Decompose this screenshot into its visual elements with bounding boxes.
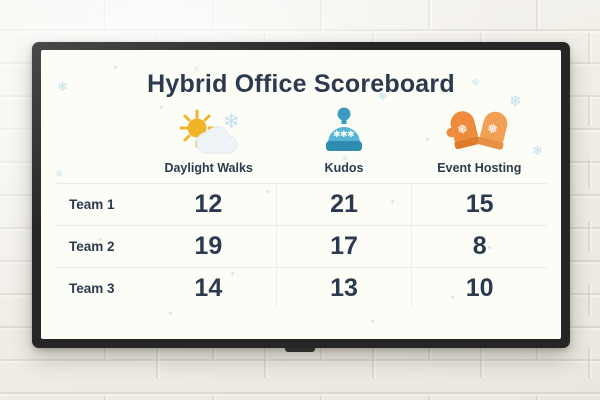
scoreboard-table: Team 1 12 21 15 Team 2 19 17 8 Team 3 14… xyxy=(55,183,547,309)
row-label-team-3: Team 3 xyxy=(55,281,141,296)
tv-screen: ❄ ❄ ❄ ❄ ❄ ❄ ❄ ❄ ❄ xyxy=(41,50,561,339)
table-row: Team 2 19 17 8 xyxy=(55,225,547,267)
beanie-snowflake-motif: ✱ ✱ ✱ xyxy=(333,130,355,140)
brick-wall-background: ❄ ❄ ❄ ❄ ❄ ❄ ❄ ❄ ❄ xyxy=(0,0,600,400)
icon-row-spacer xyxy=(55,105,141,157)
cell-team1-kudos: 21 xyxy=(276,184,412,225)
cell-team1-event-hosting: 15 xyxy=(411,184,547,225)
row-label-team-2: Team 2 xyxy=(55,239,141,254)
icon-row: ✱ ✱ ✱ xyxy=(41,105,561,157)
wall-mounted-tv: ❄ ❄ ❄ ❄ ❄ ❄ ❄ ❄ ❄ xyxy=(32,42,570,348)
table-row: Team 1 12 21 15 xyxy=(55,183,547,225)
table-row: Team 3 14 13 10 xyxy=(55,267,547,309)
column-header-daylight-walks: Daylight Walks xyxy=(141,161,276,175)
page-title: Hybrid Office Scoreboard xyxy=(41,50,561,99)
cell-team2-event-hosting: 8 xyxy=(411,226,547,267)
decorative-dot xyxy=(169,312,172,315)
table-column-headers: Daylight Walks Kudos Event Hosting xyxy=(41,161,561,175)
cell-team2-daylight-walks: 19 xyxy=(141,226,276,267)
svg-text:✱: ✱ xyxy=(347,130,355,140)
cell-team3-event-hosting: 10 xyxy=(411,268,547,309)
header-spacer xyxy=(55,161,141,175)
column-header-event-hosting: Event Hosting xyxy=(412,161,547,175)
cell-team3-daylight-walks: 14 xyxy=(141,268,276,309)
cell-team3-kudos: 13 xyxy=(276,268,412,309)
decorative-dot xyxy=(371,320,374,323)
icon-cell-kudos: ✱ ✱ ✱ xyxy=(276,105,411,157)
row-label-team-1: Team 1 xyxy=(55,197,141,212)
sun-behind-cloud-icon xyxy=(178,109,240,157)
icon-cell-daylight-walks xyxy=(141,105,276,157)
cell-team2-kudos: 17 xyxy=(276,226,412,267)
mittens-icon: ❅ ❅ xyxy=(443,109,515,157)
icon-cell-event-hosting: ❅ ❅ xyxy=(412,105,547,157)
winter-beanie-icon: ✱ ✱ ✱ xyxy=(320,107,368,157)
column-header-kudos: Kudos xyxy=(276,161,411,175)
cell-team1-daylight-walks: 12 xyxy=(141,184,276,225)
